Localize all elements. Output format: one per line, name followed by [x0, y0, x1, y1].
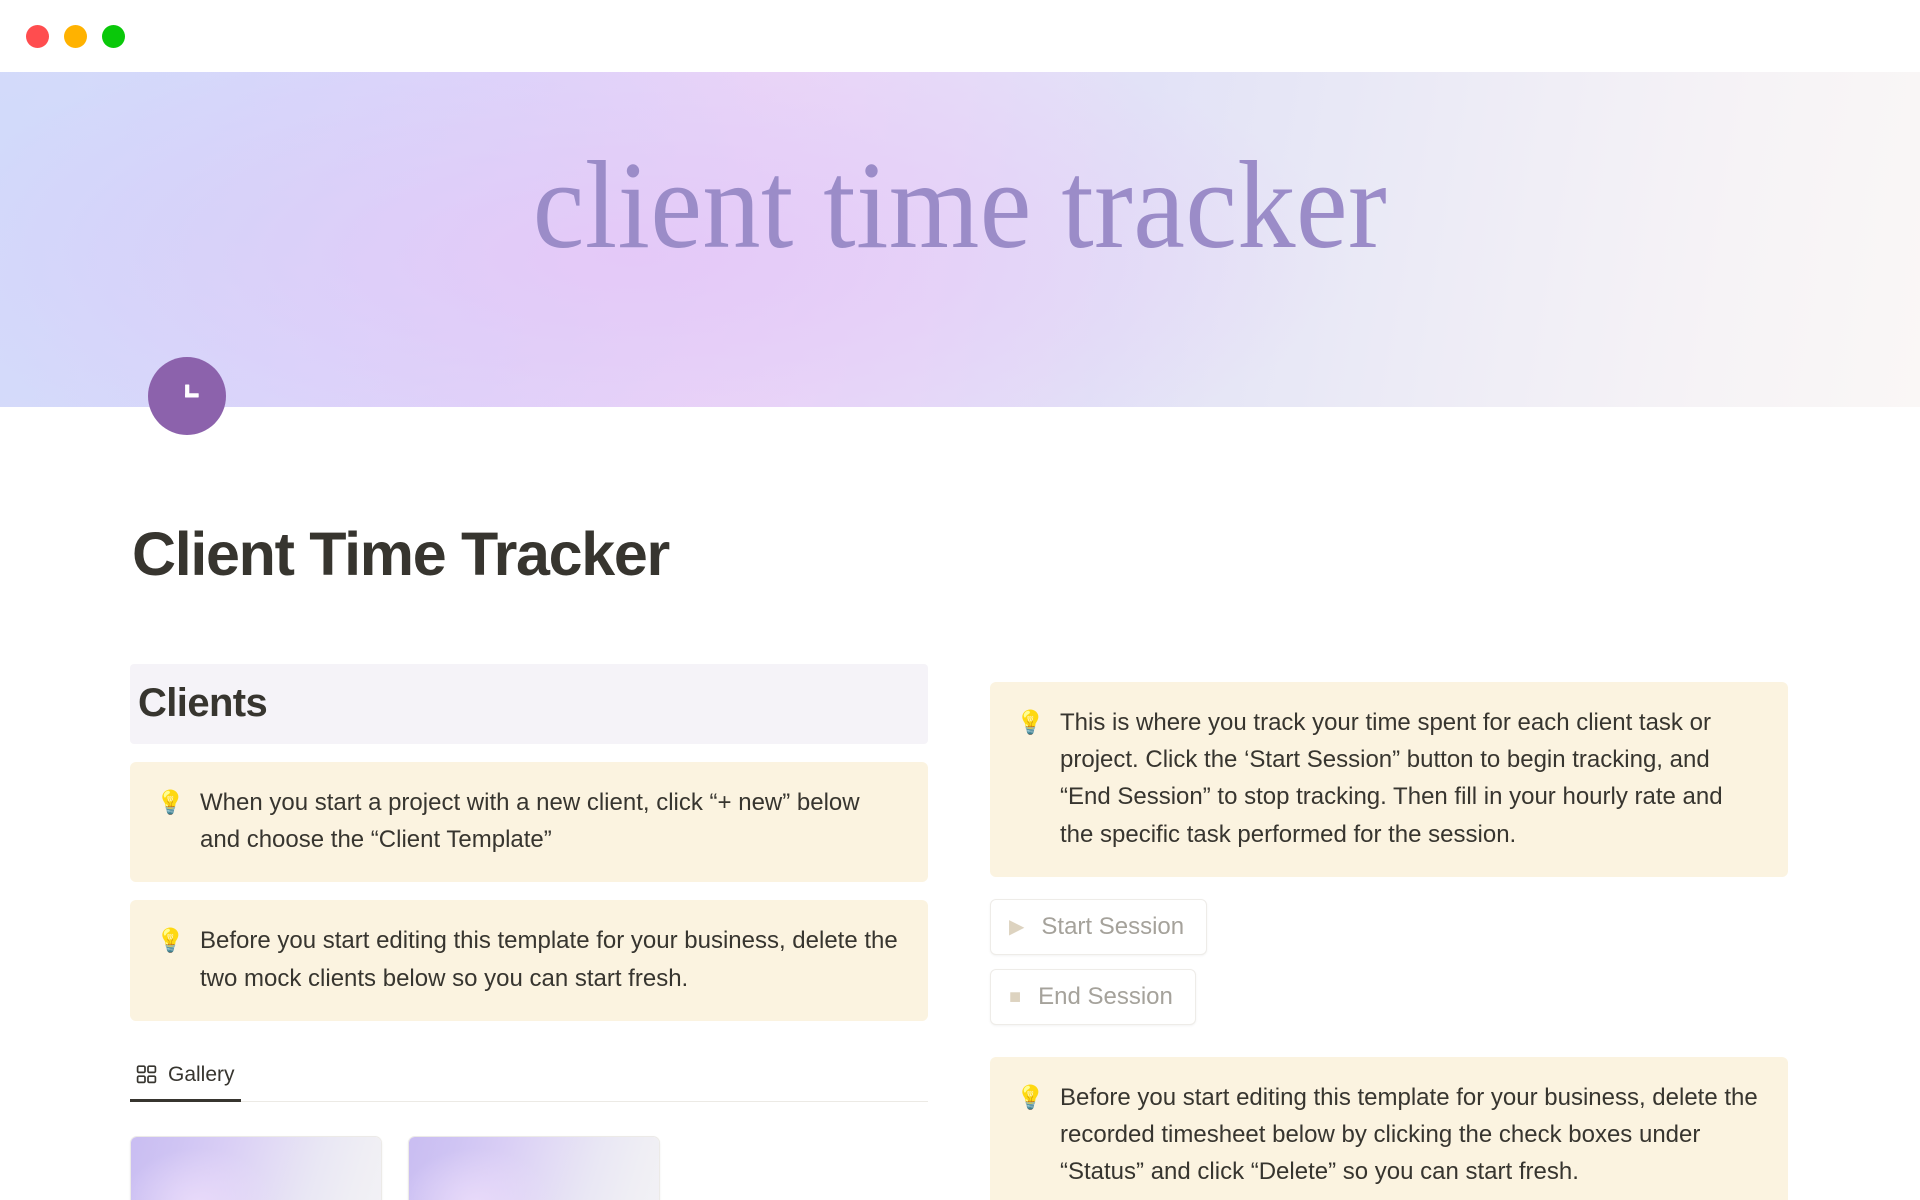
session-buttons: ▶ Start Session ■ End Session: [990, 899, 1788, 1039]
cover-banner[interactable]: client time tracker: [0, 72, 1920, 407]
gallery-card-cover: [409, 1137, 659, 1200]
callout-delete-mock-clients: 💡 Before you start editing this template…: [130, 900, 928, 1020]
two-column-layout: Clients 💡 When you start a project with …: [0, 664, 1920, 1200]
window-maximize-button[interactable]: [102, 25, 125, 48]
lightbulb-icon: 💡: [156, 784, 182, 858]
tab-gallery[interactable]: Gallery: [130, 1057, 241, 1102]
callout-session-instructions: 💡 This is where you track your time spen…: [990, 682, 1788, 877]
lightbulb-icon: 💡: [1016, 1079, 1042, 1191]
lightbulb-icon: 💡: [156, 922, 182, 996]
callout-new-client: 💡 When you start a project with a new cl…: [130, 762, 928, 882]
page-body: Client Time Tracker Clients 💡 When you s…: [0, 519, 1920, 1200]
window-minimize-button[interactable]: [64, 25, 87, 48]
clients-column: Clients 💡 When you start a project with …: [130, 664, 928, 1200]
callout-text: This is where you track your time spent …: [1060, 704, 1760, 853]
page-title: Client Time Tracker: [132, 519, 1920, 589]
stop-icon: ■: [1009, 987, 1021, 1007]
tab-gallery-label: Gallery: [168, 1063, 235, 1087]
gallery-card[interactable]: 😃 Mock Client 2: [408, 1136, 660, 1200]
play-icon: ▶: [1009, 917, 1024, 937]
callout-text: Before you start editing this template f…: [200, 922, 900, 996]
start-session-label: Start Session: [1041, 913, 1184, 941]
clients-view-tabs: Gallery: [130, 1057, 928, 1102]
gallery-card-cover: [131, 1137, 381, 1200]
clock-icon[interactable]: [148, 357, 226, 435]
end-session-button[interactable]: ■ End Session: [990, 969, 1196, 1025]
end-session-label: End Session: [1038, 983, 1173, 1011]
timesheet-column: 💡 This is where you track your time spen…: [990, 664, 1788, 1200]
clients-heading: Clients: [130, 664, 928, 744]
window-close-button[interactable]: [26, 25, 49, 48]
cover-title: client time tracker: [67, 130, 1853, 283]
lightbulb-icon: 💡: [1016, 704, 1042, 853]
window-titlebar: [0, 0, 1920, 72]
callout-delete-timesheet: 💡 Before you start editing this template…: [990, 1057, 1788, 1200]
start-session-button[interactable]: ▶ Start Session: [990, 899, 1207, 955]
gallery-card[interactable]: 😃 Mock Client 1: [130, 1136, 382, 1200]
callout-text: Before you start editing this template f…: [1060, 1079, 1760, 1191]
gallery-grid-icon: [136, 1064, 157, 1085]
callout-text: When you start a project with a new clie…: [200, 784, 900, 858]
clients-gallery: 😃 Mock Client 1 😃 Mock Client 2: [130, 1136, 928, 1200]
